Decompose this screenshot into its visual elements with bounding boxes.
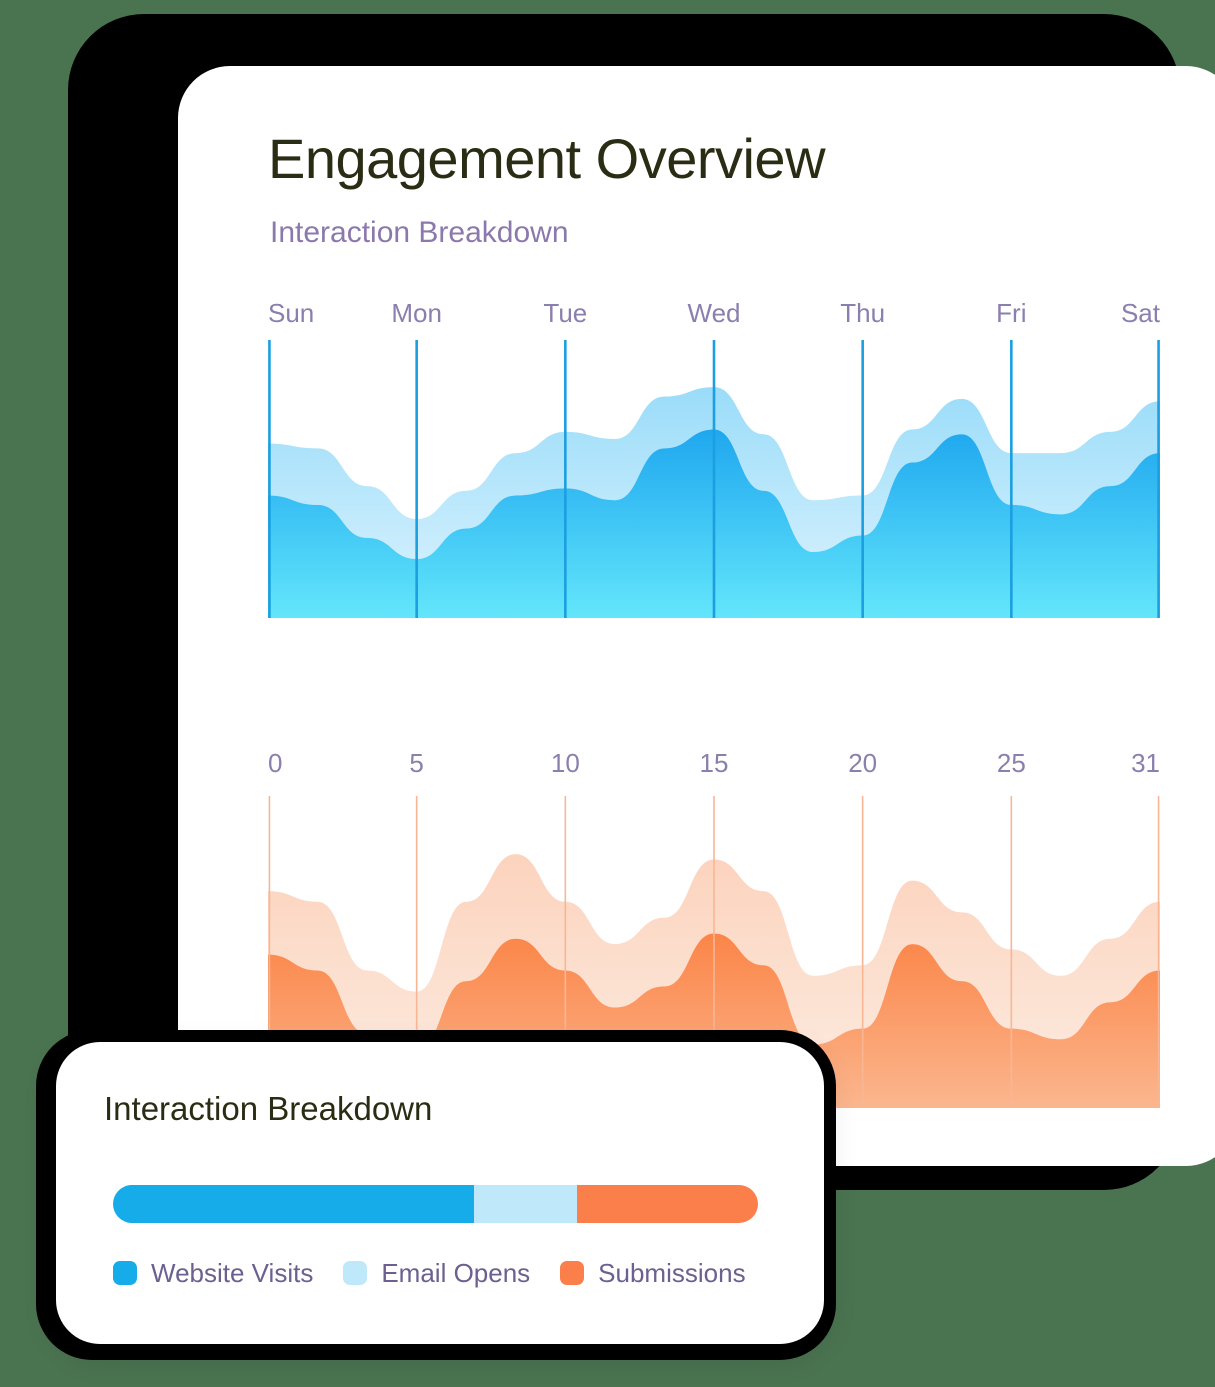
axis-tick-label: 15 [700, 748, 729, 779]
legend-item-label: Email Opens [381, 1258, 530, 1289]
axis-tick-label: Sun [268, 298, 314, 329]
stacked-bar-segment [474, 1185, 577, 1223]
legend-item[interactable]: Email Opens [343, 1258, 530, 1289]
axis-tick-label: Tue [543, 298, 587, 329]
page-title: Engagement Overview [268, 126, 825, 191]
page-subtitle: Interaction Breakdown [270, 216, 569, 250]
axis-tick-label: Fri [996, 298, 1026, 329]
axis-tick-label: Sat [1121, 298, 1160, 329]
stacked-bar-segment [113, 1185, 474, 1223]
legend-swatch-icon [113, 1261, 137, 1285]
axis-tick-label: 25 [997, 748, 1026, 779]
legend-swatch-icon [560, 1261, 584, 1285]
axis-tick-label: 0 [268, 748, 282, 779]
legend-card-title: Interaction Breakdown [104, 1090, 432, 1128]
chart-legend: Website VisitsEmail OpensSubmissions [113, 1256, 793, 1290]
device-frame: Engagement Overview Interaction Breakdow… [68, 14, 1180, 1190]
axis-tick-label: 20 [848, 748, 877, 779]
axis-tick-label: Mon [391, 298, 442, 329]
dashboard-card: Engagement Overview Interaction Breakdow… [178, 66, 1215, 1166]
legend-item[interactable]: Website Visits [113, 1258, 313, 1289]
axis-tick-label: Wed [688, 298, 741, 329]
legend-swatch-icon [343, 1261, 367, 1285]
legend-item[interactable]: Submissions [560, 1258, 745, 1289]
interaction-breakdown-card: Interaction Breakdown Website VisitsEmai… [56, 1042, 824, 1344]
axis-tick-label: 31 [1131, 748, 1160, 779]
submissions-x-axis: 051015202531 [268, 748, 1160, 788]
interaction-stacked-bar [113, 1185, 758, 1223]
engagement-x-axis: SunMonTueWedThuFriSat [268, 298, 1160, 338]
axis-tick-label: Thu [840, 298, 885, 329]
screenshot-root: Engagement Overview Interaction Breakdow… [0, 0, 1215, 1387]
engagement-area-chart[interactable]: SunMonTueWedThuFriSat [268, 298, 1160, 618]
legend-item-label: Submissions [598, 1258, 745, 1289]
engagement-plot-area [268, 340, 1160, 618]
stacked-bar-segment [577, 1185, 758, 1223]
axis-tick-label: 10 [551, 748, 580, 779]
legend-item-label: Website Visits [151, 1258, 313, 1289]
axis-tick-label: 5 [409, 748, 423, 779]
